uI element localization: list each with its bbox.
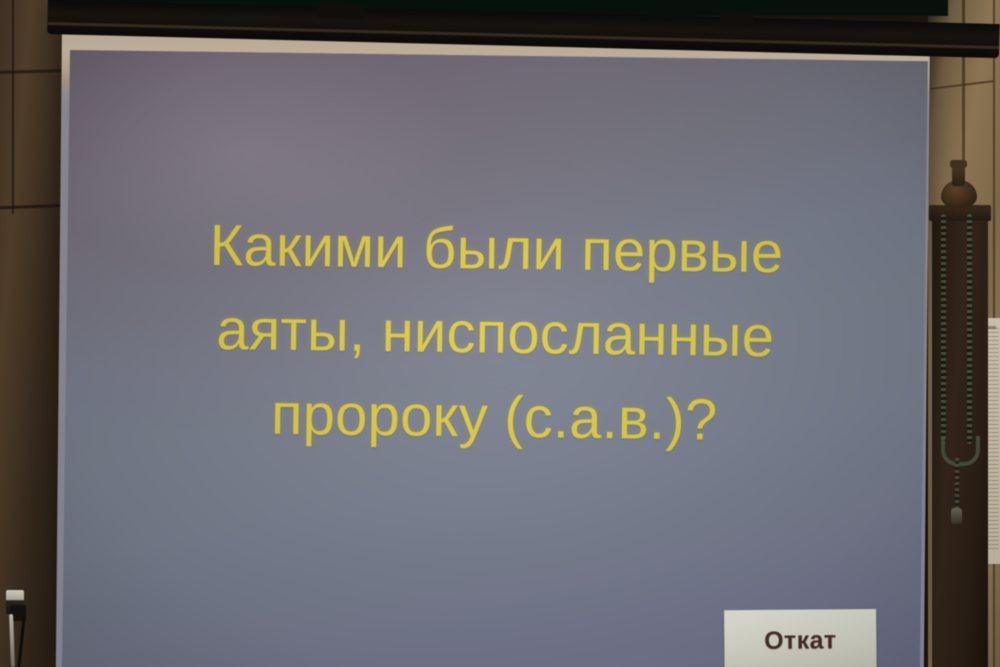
bead-loop bbox=[941, 436, 980, 466]
bead-tail bbox=[955, 458, 959, 510]
photo-scene: Какими были первые аяты, ниспосланные пр… bbox=[0, 0, 1000, 667]
rollback-button-label: Откат bbox=[764, 626, 837, 656]
wall-seam-vertical bbox=[12, 0, 14, 214]
post-finial-neck bbox=[952, 166, 965, 186]
bead-strand-left bbox=[941, 214, 946, 444]
roller-bracket-right bbox=[720, 12, 754, 26]
left-wall-panel bbox=[0, 0, 64, 667]
bead-tassel bbox=[951, 508, 962, 524]
slide-text-line-1: Какими были первые bbox=[67, 202, 926, 297]
slide-question-text: Какими были первые аяты, ниспосланные пр… bbox=[65, 202, 926, 465]
projected-slide: Какими были первые аяты, ниспосланные пр… bbox=[62, 50, 928, 667]
slide-text-line-3: пророку (с.а.в.)? bbox=[65, 370, 924, 465]
rollback-button[interactable]: Откат bbox=[724, 609, 876, 667]
roller-bracket-left bbox=[318, 3, 364, 18]
post-finial-tip bbox=[950, 160, 967, 168]
slide-text-line-2: аяты, ниспосланные bbox=[66, 286, 925, 381]
bead-strand-right bbox=[967, 214, 972, 444]
prayer-beads bbox=[939, 214, 985, 444]
wall-seam-horizontal-upper bbox=[0, 69, 64, 74]
